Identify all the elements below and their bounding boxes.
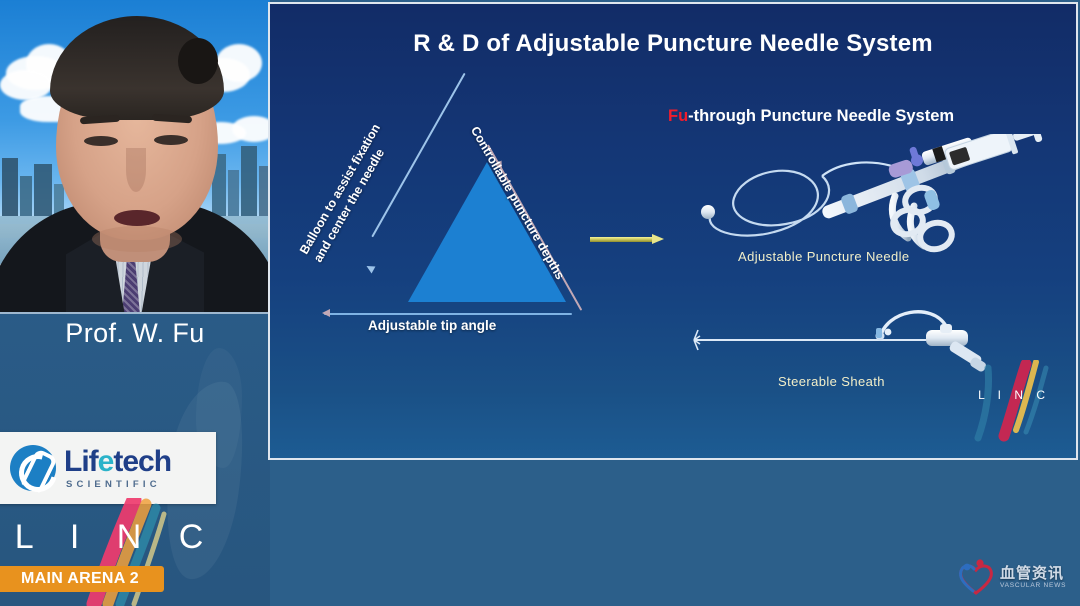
watermark-text: 血管资讯 VASCULAR NEWS — [1000, 566, 1066, 590]
adjustable-puncture-needle-caption: Adjustable Puncture Needle — [738, 249, 910, 264]
speaker-video-tile[interactable] — [0, 0, 270, 314]
lifetech-name-part2: e — [98, 445, 114, 478]
steerable-sheath-illustration — [690, 304, 1010, 376]
yellow-right-arrow-icon — [590, 234, 666, 244]
feature-triangle-diagram: Balloon to assist fixation and center th… — [330, 114, 620, 329]
arrow-head-bottom-icon — [322, 309, 330, 317]
lifetech-tagline: SCIENTIFIC — [64, 480, 171, 490]
lifetech-wordmark: Lifetech SCIENTIFIC — [64, 447, 171, 490]
speaker-figure — [0, 0, 270, 312]
triangle-label-left-line1: Balloon to assist fixation — [297, 122, 385, 258]
subtitle-highlight: Fu — [668, 107, 688, 125]
arrow-tip — [652, 234, 664, 244]
eye-right — [154, 135, 188, 145]
heart-with-two-figures-logo-icon — [956, 558, 996, 598]
lifetech-circle-logo-icon — [10, 445, 56, 491]
mouth — [114, 210, 160, 226]
lifetech-name-part1: Lif — [64, 445, 98, 478]
main-arena-badge: MAIN ARENA 2 — [0, 566, 164, 592]
nose — [126, 148, 146, 192]
lifetech-name: Lifetech — [64, 447, 171, 477]
speaker-panel: Prof. W. Fu Lifetech SCIENTIFIC L I N C … — [0, 0, 270, 606]
arrow-shaft — [590, 237, 654, 242]
sponsor-logo-card[interactable]: Lifetech SCIENTIFIC — [0, 432, 216, 504]
watermark-text-en: VASCULAR NEWS — [1000, 583, 1066, 590]
presentation-slide-frame[interactable]: R & D of Adjustable Puncture Needle Syst… — [268, 2, 1078, 460]
slide-canvas: R & D of Adjustable Puncture Needle Syst… — [270, 4, 1076, 458]
chin — [92, 226, 182, 252]
triangle-label-left: Balloon to assist fixation and center th… — [297, 122, 398, 266]
eye-left — [84, 136, 118, 146]
speaker-name-label: Prof. W. Fu — [0, 318, 270, 349]
slide-linc-brushstroke-graphic — [966, 360, 1062, 444]
watermark-text-cn: 血管资讯 — [1000, 566, 1066, 581]
subtitle-rest: -through Puncture Needle System — [688, 107, 954, 125]
slide-linc-wordmark: L I N C — [978, 388, 1050, 402]
adjustable-puncture-needle-illustration — [690, 134, 1050, 254]
triangle-label-bottom: Adjustable tip angle — [368, 318, 496, 335]
vascular-news-watermark: 血管资讯 VASCULAR NEWS — [956, 554, 1076, 602]
hair — [50, 16, 224, 120]
lifetech-name-part3: tech — [113, 445, 171, 478]
slide-subtitle: Fu-through Puncture Needle System — [668, 107, 954, 126]
arrow-head-left-icon — [365, 263, 376, 274]
steerable-sheath-caption: Steerable Sheath — [778, 374, 885, 389]
slide-title: R & D of Adjustable Puncture Needle Syst… — [270, 30, 1076, 58]
triangle-edge-bottom — [324, 313, 572, 315]
linc-wordmark: L I N C — [0, 518, 232, 557]
